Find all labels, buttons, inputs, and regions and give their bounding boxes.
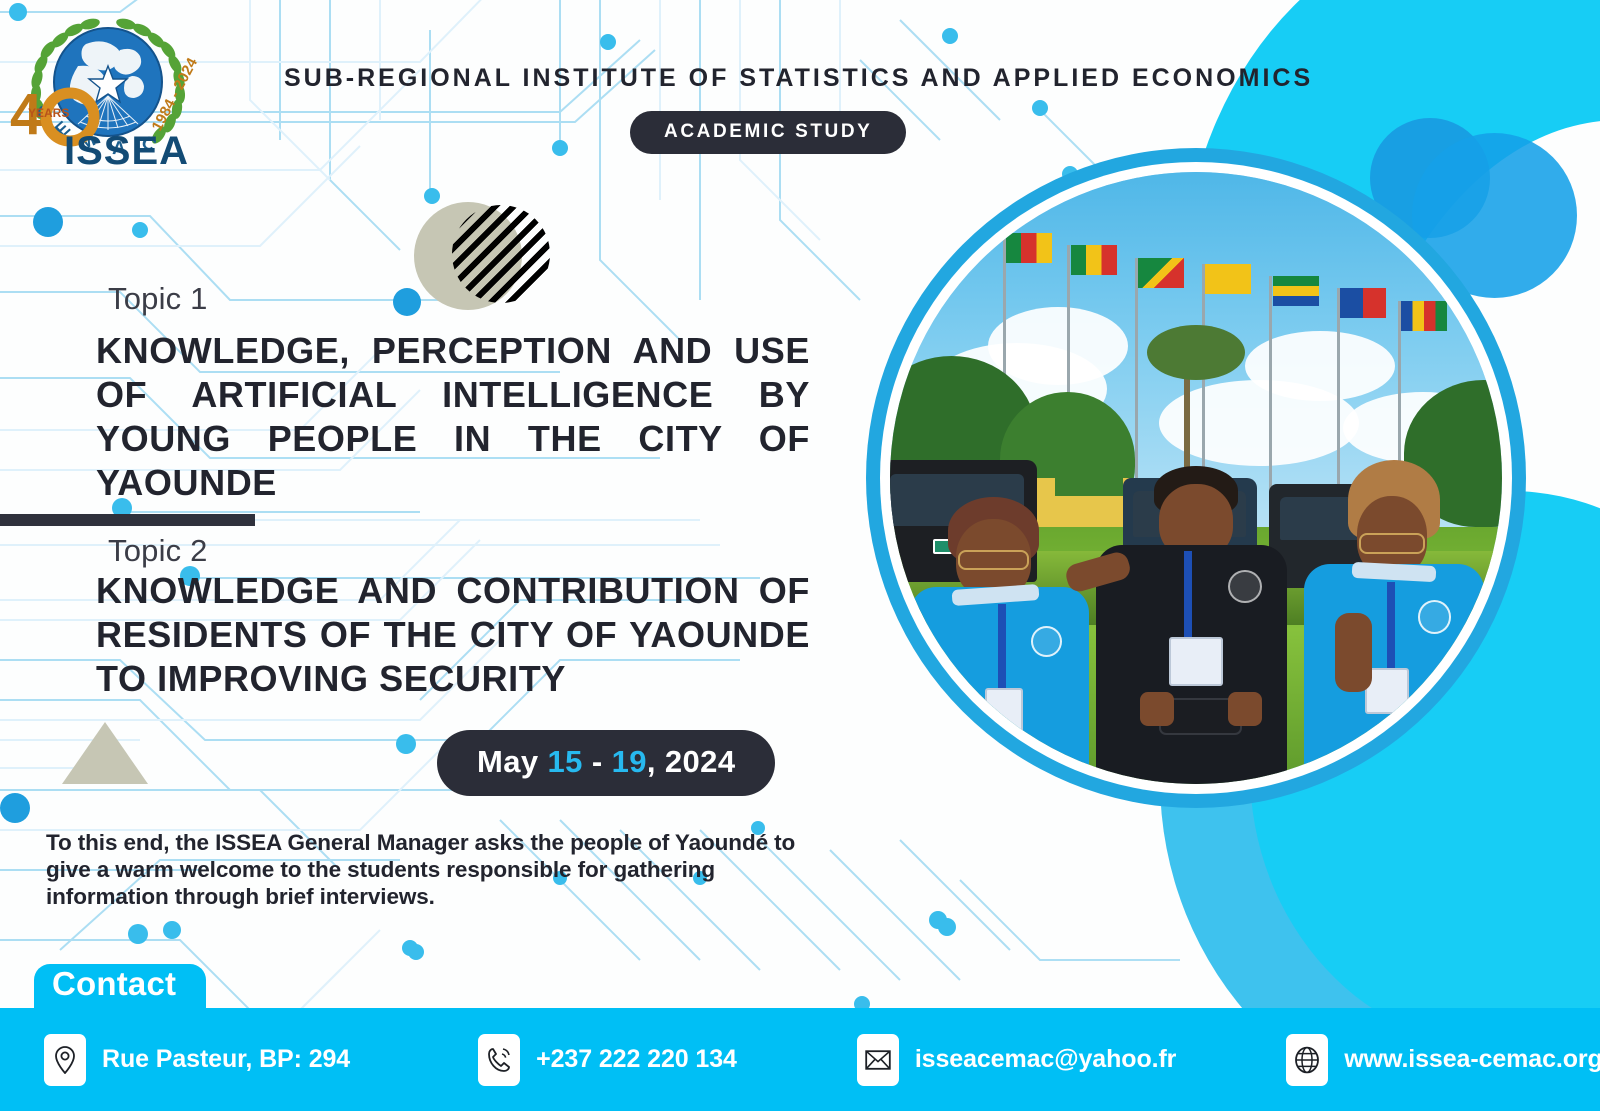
svg-text:YEARS: YEARS <box>28 106 69 120</box>
topic-2-title: KNOWLEDGE AND CONTRIBUTION OF RESIDENTS … <box>96 569 810 701</box>
photo-ring-inner <box>880 162 1512 794</box>
students-photo <box>890 172 1502 784</box>
thumbs-up-hand <box>1335 613 1372 693</box>
eyeglasses <box>1359 533 1425 554</box>
body-paragraph: To this end, the ISSEA General Manager a… <box>46 829 816 910</box>
decorative-dot <box>408 944 424 960</box>
phone-icon <box>478 1034 520 1086</box>
photo-cloud <box>988 307 1128 385</box>
eyeglasses <box>958 550 1029 570</box>
topic-1-label: Topic 1 <box>108 281 208 317</box>
decorative-beige-circle <box>414 202 522 310</box>
flag-cemac <box>1205 264 1251 294</box>
flag-member-state <box>1340 288 1386 318</box>
address-text: Rue Pasteur, BP: 294 <box>102 1045 350 1074</box>
student-right <box>1282 478 1502 784</box>
page-title: SUB-REGIONAL INSTITUTE OF STATISTICS AND… <box>284 64 1313 93</box>
contact-item-website[interactable]: www.issea-cemac.org <box>1286 1034 1600 1086</box>
flag-chad <box>1401 301 1447 331</box>
decorative-beige-triangle <box>62 722 148 784</box>
contact-items-row: Rue Pasteur, BP: 294 +237 222 220 134 <box>0 1008 1600 1111</box>
academic-study-badge: ACADEMIC STUDY <box>630 111 906 154</box>
location-pin-icon <box>44 1034 86 1086</box>
globe-icon <box>1286 1034 1328 1086</box>
lanyard <box>1387 582 1395 668</box>
hand <box>1140 692 1174 726</box>
flag-cameroon <box>1006 233 1052 263</box>
date-year: , 2024 <box>647 744 736 779</box>
decorative-dot <box>0 793 30 823</box>
email-text: isseacemac@yahoo.fr <box>915 1045 1177 1074</box>
flag-member-state <box>1071 245 1117 275</box>
decorative-dot <box>393 288 421 316</box>
flag-gabon <box>1273 276 1319 306</box>
issea-cemac-logo: C E M A C 4 YEARS 1984 - 2024 ISSEA <box>8 4 208 182</box>
flag-congo <box>1138 258 1184 288</box>
contact-item-phone[interactable]: +237 222 220 134 <box>478 1034 737 1086</box>
decorative-dot <box>128 924 148 944</box>
contact-item-address[interactable]: Rue Pasteur, BP: 294 <box>44 1034 350 1086</box>
topic-1-title: KNOWLEDGE, PERCEPTION AND USE OF ARTIFIC… <box>96 329 810 505</box>
section-divider <box>0 514 255 526</box>
date-day-end: 19 <box>612 744 647 779</box>
phone-text: +237 222 220 134 <box>536 1045 737 1074</box>
date-month: May <box>477 744 548 779</box>
envelope-icon <box>857 1034 899 1086</box>
id-badge <box>1365 668 1409 714</box>
id-badge <box>985 688 1022 733</box>
hand <box>1228 692 1262 726</box>
date-badge: May 15 - 19, 2024 <box>437 730 775 796</box>
date-day-start: 15 <box>548 744 583 779</box>
lanyard <box>998 604 1006 688</box>
lanyard <box>1184 551 1192 643</box>
svg-text:ISSEA: ISSEA <box>64 129 189 173</box>
contact-item-email[interactable]: isseacemac@yahoo.fr <box>857 1034 1177 1086</box>
decorative-dot <box>938 918 956 936</box>
decorative-dot <box>33 207 63 237</box>
id-badge <box>1169 637 1223 686</box>
topic-2-label: Topic 2 <box>108 533 208 569</box>
website-text: www.issea-cemac.org <box>1344 1045 1600 1074</box>
photo-cloud <box>1245 331 1395 401</box>
poster-root: C E M A C 4 YEARS 1984 - 2024 ISSEA SUB-… <box>0 0 1600 1111</box>
photo-ring <box>866 148 1526 808</box>
decorative-striped-circle <box>452 205 550 303</box>
contact-heading: Contact <box>52 965 176 1003</box>
date-separator: - <box>583 744 612 779</box>
palm-fronds <box>1147 325 1245 380</box>
